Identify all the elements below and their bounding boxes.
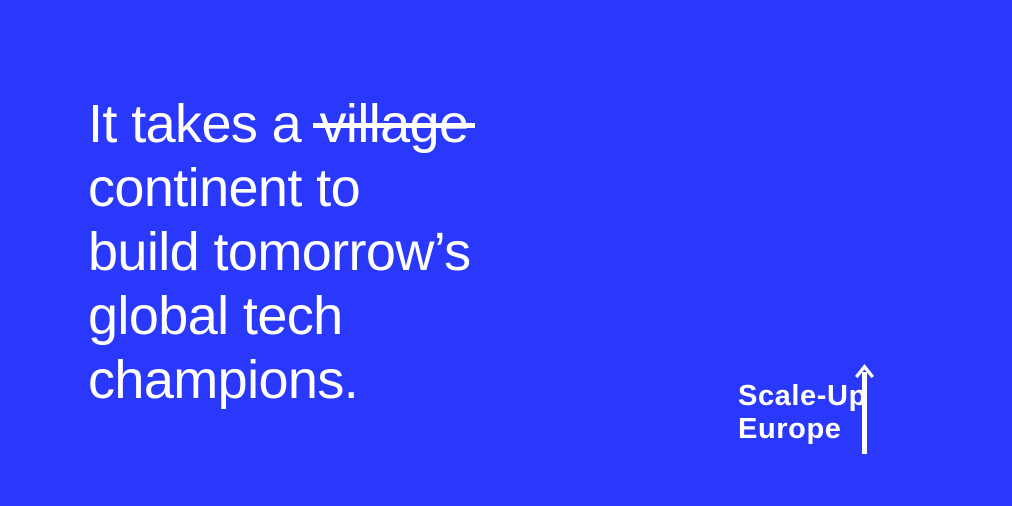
- struck-word-text: village: [320, 94, 469, 154]
- poster-canvas: It takes a village continent to build to…: [0, 0, 1012, 506]
- headline-line-1-prefix: It takes a: [88, 94, 316, 154]
- struck-word-village: village: [316, 92, 473, 156]
- headline-line-5: champions.: [88, 348, 708, 412]
- logo-line-europe: Europe: [738, 413, 938, 446]
- headline-line-1: It takes a village: [88, 92, 708, 156]
- headline-line-3: build tomorrow’s: [88, 220, 708, 284]
- headline-line-2: continent to: [88, 156, 708, 220]
- scale-up-europe-logo: Scale-Up Europe: [738, 380, 938, 460]
- headline-line-4: global tech: [88, 284, 708, 348]
- arrow-up-icon: [852, 364, 878, 454]
- logo-line-scale-up: Scale-Up: [738, 380, 938, 413]
- headline: It takes a village continent to build to…: [88, 92, 708, 412]
